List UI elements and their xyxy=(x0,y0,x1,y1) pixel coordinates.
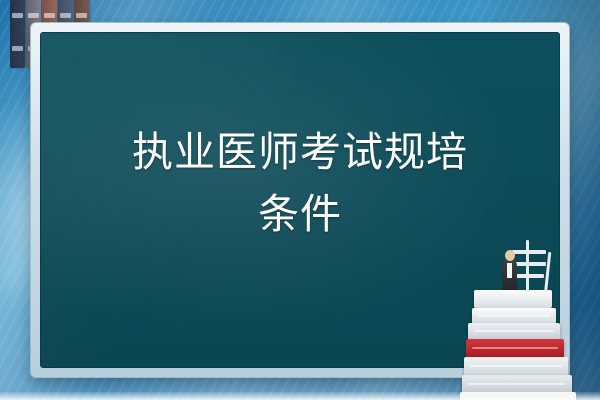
book-slab-red xyxy=(466,339,564,358)
signpost-arm-middle xyxy=(512,262,546,266)
person-head xyxy=(505,250,515,261)
image-canvas: 执业医师考试规培 条件 xyxy=(0,0,600,400)
signpost-pole-vertical xyxy=(526,240,529,292)
blackboard-title-text: 执业医师考试规培 条件 xyxy=(41,121,559,246)
signpost-arm-lower xyxy=(516,274,544,278)
book-slab-1 xyxy=(472,308,556,324)
bottom-light-strip xyxy=(0,392,600,400)
book-slab-2 xyxy=(468,323,560,340)
podium-slab xyxy=(474,290,552,308)
signpost-arm-upper xyxy=(512,250,546,254)
person-shirt xyxy=(507,263,512,278)
binder-1 xyxy=(10,0,25,68)
book-stack-group xyxy=(460,254,590,400)
book-slab-3 xyxy=(464,357,568,376)
